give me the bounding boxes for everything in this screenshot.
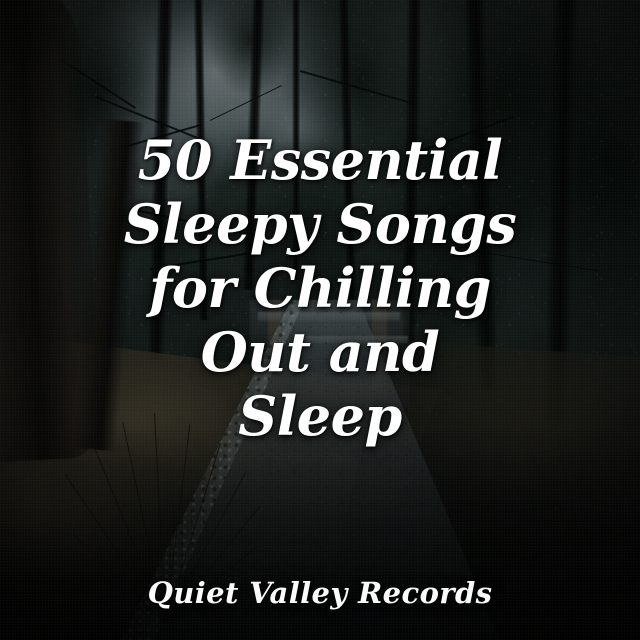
cover-text-layer: 50 Essential Sleepy Songs for Chilling O… — [0, 0, 640, 640]
album-title: 50 Essential Sleepy Songs for Chilling O… — [0, 128, 640, 448]
record-label-name: Quiet Valley Records — [0, 576, 640, 610]
album-cover: 50 Essential Sleepy Songs for Chilling O… — [0, 0, 640, 640]
